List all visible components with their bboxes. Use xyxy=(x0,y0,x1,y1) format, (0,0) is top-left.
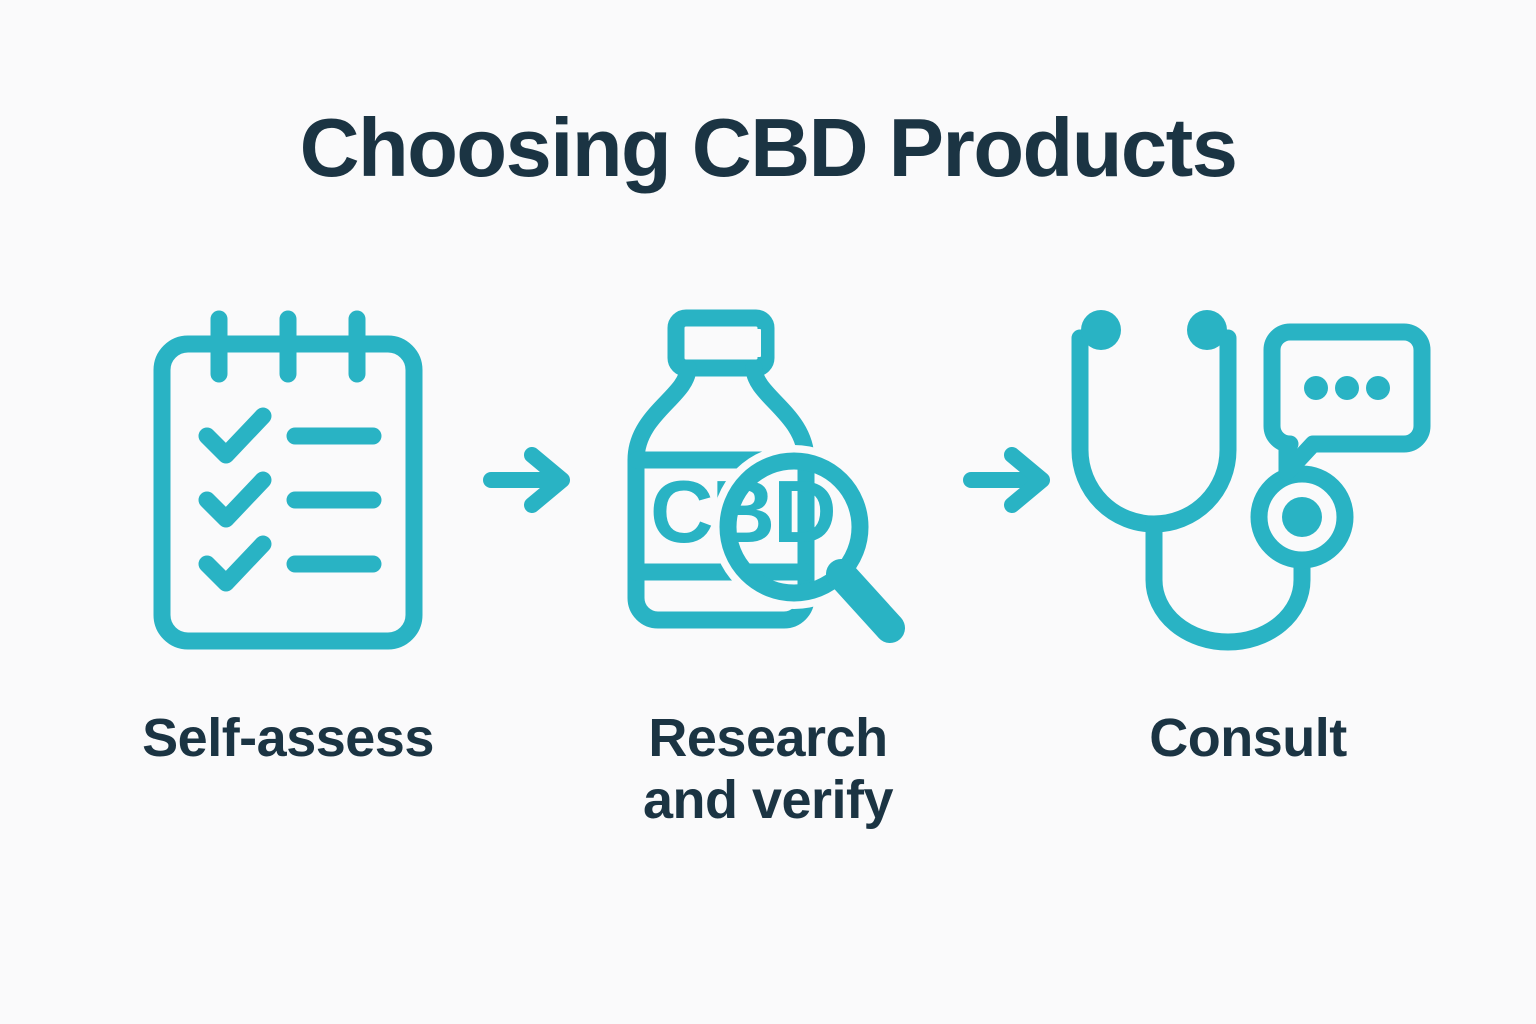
stethoscope-speech-bubble-icon xyxy=(1068,310,1428,650)
infographic-canvas: Choosing CBD Products xyxy=(0,0,1536,1024)
stethoscope-eartips xyxy=(1081,310,1227,350)
arrow-step-2-to-3 xyxy=(933,300,1083,660)
step-2-icon-wrap: CBD xyxy=(618,300,918,660)
step-2-label: Research and verify xyxy=(643,708,893,831)
step-self-assess: Self-assess xyxy=(123,300,453,770)
speech-bubble-icon xyxy=(1272,332,1422,472)
step-1-icon-wrap xyxy=(153,300,423,660)
cap-ribs xyxy=(690,329,761,357)
arrow-step-1-to-2 xyxy=(453,300,603,660)
clipboard-checklist-icon xyxy=(153,310,423,650)
right-arrow-icon xyxy=(482,446,574,514)
step-3-label: Consult xyxy=(1149,708,1346,770)
steps-row: Self-assess xyxy=(96,300,1440,900)
stethoscope-chestpiece xyxy=(1259,474,1345,560)
step-3-icon-wrap xyxy=(1068,300,1428,660)
step-consult: Consult xyxy=(1083,300,1413,770)
step-research-and-verify: CBD Research and verify xyxy=(603,300,933,831)
cbd-bottle-magnifier-icon: CBD xyxy=(618,310,918,650)
page-title: Choosing CBD Products xyxy=(0,104,1536,191)
right-arrow-icon xyxy=(962,446,1054,514)
step-1-label: Self-assess xyxy=(142,708,434,770)
speech-bubble-dots xyxy=(1304,376,1390,400)
